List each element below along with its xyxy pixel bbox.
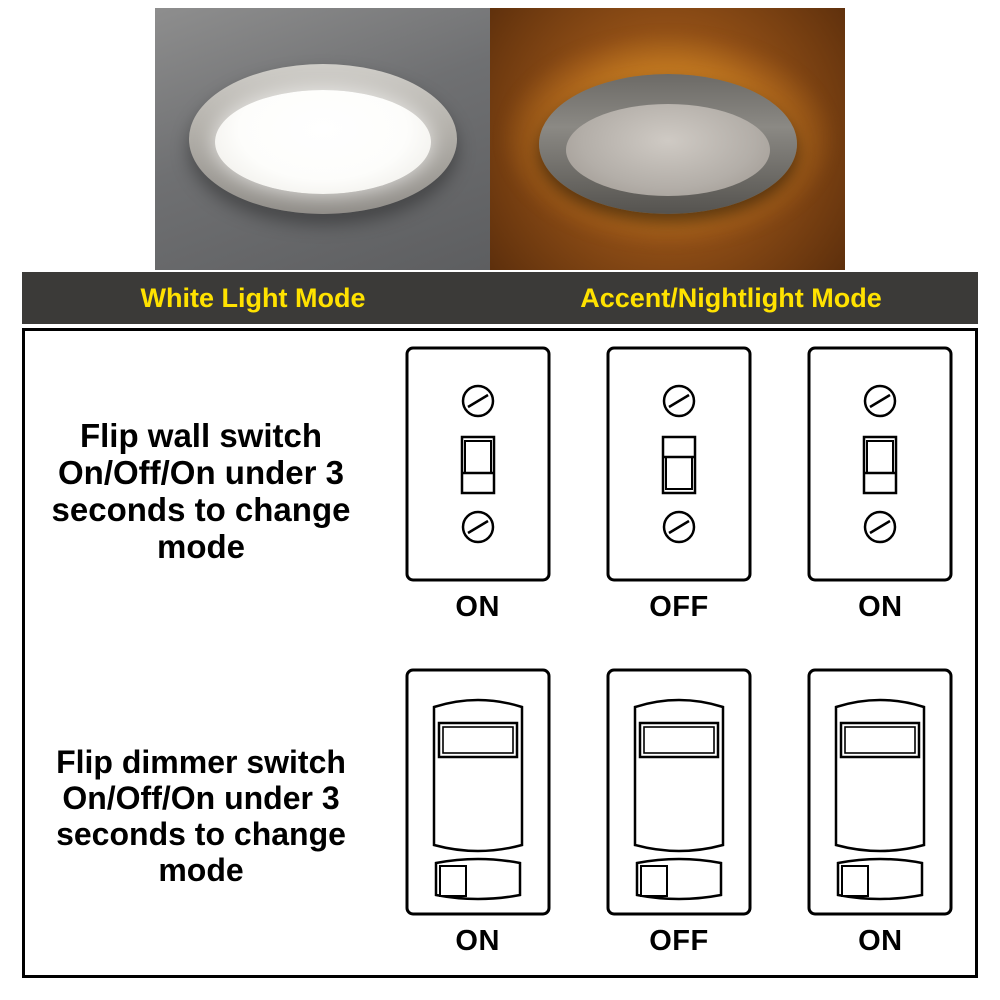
wall-switch-step-3: ON [806, 345, 954, 624]
dimmer-switch-step-2: OFF [605, 667, 753, 958]
switch-state-label: ON [858, 925, 903, 958]
accent-nightlight-mode-photo [490, 8, 845, 270]
wall-switch-step-2: OFF [605, 345, 753, 624]
switch-state-label: ON [858, 591, 903, 624]
dimmer-switch-step-3: ON [806, 667, 954, 958]
mode-label-accent-nightlight: Accent/Nightlight Mode [484, 283, 978, 314]
toggle-switch-plate-icon [404, 345, 552, 583]
caption-wall-switch: Flip wall switch On/Off/On under 3 secon… [25, 331, 377, 653]
row-dimmer-switch: Flip dimmer switch On/Off/On under 3 sec… [25, 653, 981, 981]
wall-switch-sequence: ON OFF [377, 331, 981, 653]
toggle-switch-plate-icon [605, 345, 753, 583]
white-light-mode-photo [155, 8, 490, 270]
ceiling-fixture-lens [566, 104, 770, 196]
product-photo-strip [155, 8, 845, 270]
ceiling-fixture-ring [539, 74, 797, 214]
dimmer-switch-plate-icon [806, 667, 954, 917]
wall-switch-step-1: ON [404, 345, 552, 624]
ceiling-fixture-lens [215, 90, 431, 194]
toggle-switch-plate-icon [806, 345, 954, 583]
dimmer-switch-step-1: ON [404, 667, 552, 958]
dimmer-switch-sequence: ON OFF [377, 653, 981, 981]
ceiling-fixture-ring [189, 64, 457, 214]
switch-state-label: ON [455, 925, 500, 958]
dimmer-switch-plate-icon [605, 667, 753, 917]
mode-label-bar: White Light Mode Accent/Nightlight Mode [22, 272, 978, 324]
instructions-panel: Flip wall switch On/Off/On under 3 secon… [22, 328, 978, 978]
dimmer-switch-plate-icon [404, 667, 552, 917]
switch-state-label: OFF [649, 925, 709, 958]
row-wall-switch: Flip wall switch On/Off/On under 3 secon… [25, 331, 981, 653]
switch-state-label: OFF [649, 591, 709, 624]
instruction-diagram: White Light Mode Accent/Nightlight Mode … [0, 0, 1000, 1000]
switch-state-label: ON [455, 591, 500, 624]
mode-label-white-light: White Light Mode [22, 283, 484, 314]
caption-dimmer-switch: Flip dimmer switch On/Off/On under 3 sec… [25, 653, 377, 981]
